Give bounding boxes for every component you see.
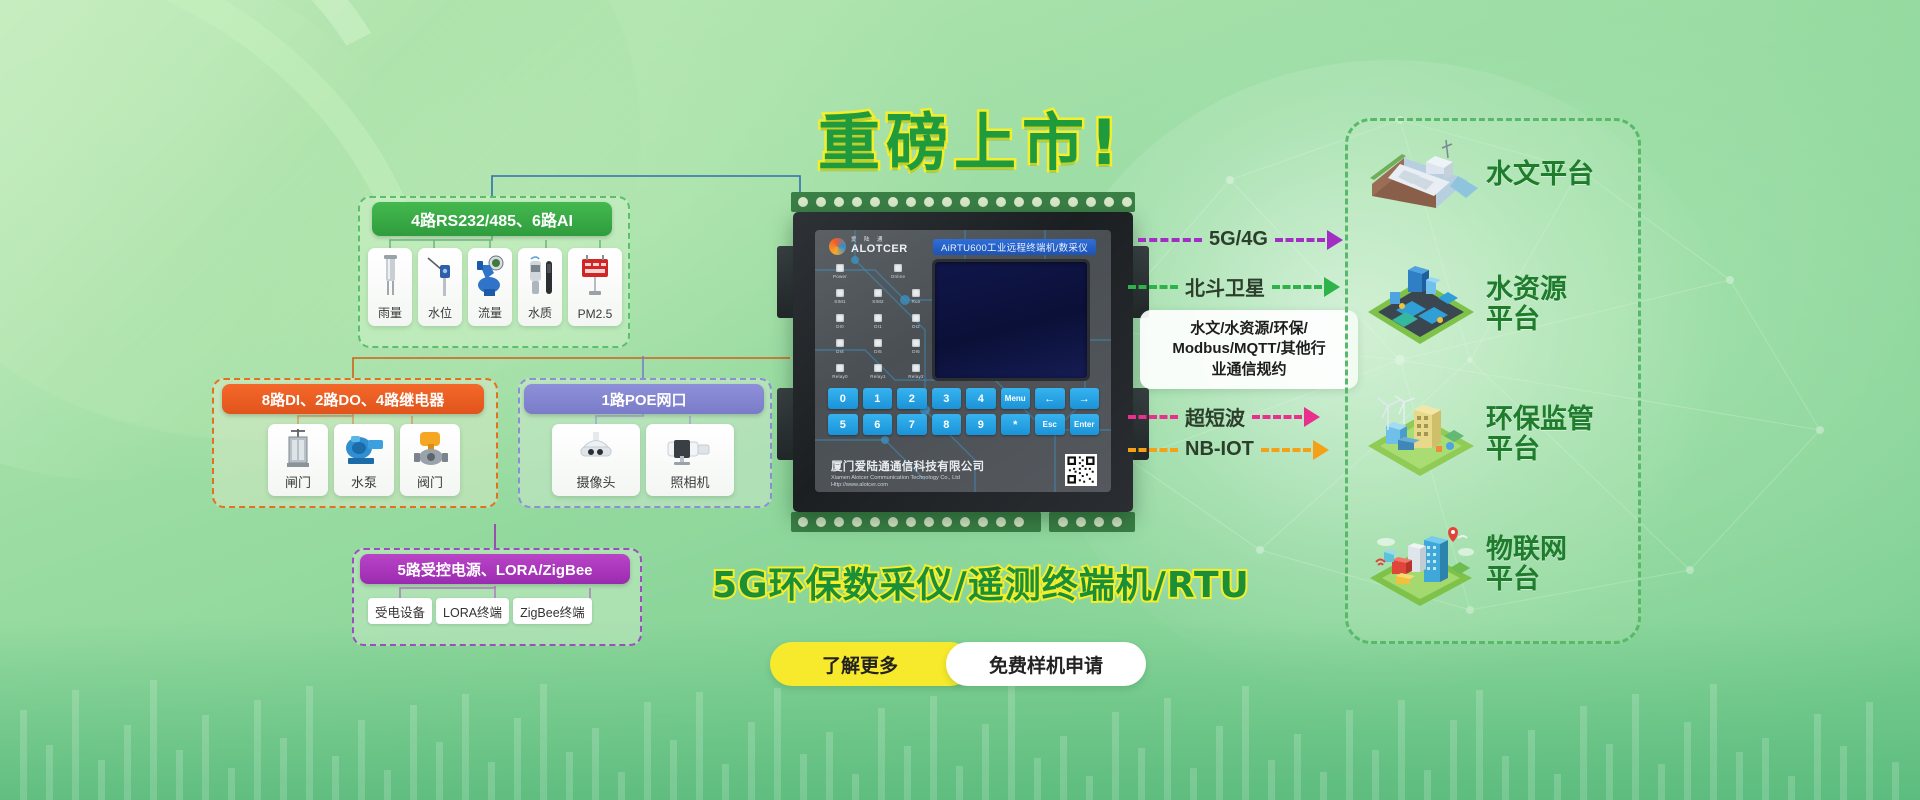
keypad-row: 0 1 2 3 4 Menu ← → — [828, 388, 1099, 409]
free-sample-button[interactable]: 免费样机申请 — [946, 642, 1146, 686]
led-indicator: DI4 — [828, 339, 852, 354]
key-3[interactable]: 3 — [932, 388, 962, 409]
arrow-head-icon — [1313, 440, 1329, 460]
list-item[interactable]: 照相机 — [646, 424, 734, 496]
platform-iot[interactable]: 物联网 平台 — [1362, 518, 1567, 610]
arrow-head-icon — [1327, 230, 1343, 250]
key-8[interactable]: 8 — [932, 414, 962, 435]
led-indicator: SIM2 — [866, 289, 890, 304]
led-indicator: Relay0 — [828, 364, 852, 379]
dashed-line — [1128, 448, 1178, 452]
flow-5g4g: 5G/4G — [1138, 228, 1343, 251]
device-lcd-screen — [935, 262, 1087, 378]
key-arrow-right[interactable]: → — [1070, 388, 1100, 409]
platform-label: 物联网 平台 — [1486, 534, 1567, 594]
led-indicator: DI1 — [866, 314, 890, 329]
list-item[interactable]: 水质 — [518, 248, 562, 326]
alotcer-logo-icon — [829, 238, 846, 255]
company-name-cn: 厦门爱陆通通信科技有限公司 — [831, 458, 984, 474]
bullet-camera-icon — [646, 424, 734, 472]
rtu-device: 爱 陆 通 ALOTCER AiRTU600工业远程终端机/数采仪 Power … — [793, 212, 1133, 512]
sluice-gate-icon — [268, 424, 328, 472]
dashed-line — [1275, 238, 1325, 242]
led-indicator: Power — [828, 264, 852, 279]
key-1[interactable]: 1 — [863, 388, 893, 409]
key-star[interactable]: * — [1001, 414, 1031, 435]
rain-gauge-icon — [368, 248, 412, 304]
device-bottom-terminals-icon — [787, 510, 1139, 534]
protocol-line: Modbus/MQTT/其他行 — [1150, 339, 1348, 359]
device-keypad: 0 1 2 3 4 Menu ← → 5 6 7 8 9 * Esc — [828, 388, 1099, 440]
lora-chip-row: 受电设备 LORA终端 ZigBee终端 — [368, 598, 592, 624]
protocol-line: 业通信规约 — [1150, 360, 1348, 380]
led-indicator: DI6 — [904, 339, 928, 354]
device-top-terminals-icon — [787, 190, 1139, 214]
sensor-group-title: 4路RS232/485、6路AI — [372, 202, 612, 236]
qr-code-icon — [1065, 454, 1097, 486]
device-model-title: AiRTU600工业远程终端机/数采仪 — [933, 239, 1096, 255]
list-item-label: 阀门 — [417, 472, 443, 496]
iot-city-isometric-icon — [1362, 518, 1482, 610]
list-item[interactable]: ZigBee终端 — [513, 598, 592, 624]
dam-isometric-icon — [1362, 128, 1482, 220]
platform-label: 水文平台 — [1486, 159, 1594, 189]
key-arrow-left[interactable]: ← — [1035, 388, 1065, 409]
list-item[interactable]: 流量 — [468, 248, 512, 326]
company-name-en: Xiamen Alotcer Communication Technology … — [831, 475, 984, 481]
company-website: Http://www.alotcer.com — [831, 482, 984, 488]
cta-button-group: 了解更多 免费样机申请 — [770, 642, 1146, 686]
learn-more-button[interactable]: 了解更多 — [770, 642, 972, 686]
dome-camera-icon — [552, 424, 640, 472]
list-item[interactable]: 受电设备 — [368, 598, 432, 624]
banner-stage: 重磅上市! 4路RS232/485、6路AI 雨量 水位 流量 水质 — [0, 0, 1920, 800]
key-enter[interactable]: Enter — [1070, 414, 1100, 435]
key-esc[interactable]: Esc — [1035, 414, 1065, 435]
platform-label: 水资源 平台 — [1486, 274, 1567, 334]
list-item[interactable]: 摄像头 — [552, 424, 640, 496]
list-item[interactable]: 闸门 — [268, 424, 328, 496]
key-0[interactable]: 0 — [828, 388, 858, 409]
list-item[interactable]: 雨量 — [368, 248, 412, 326]
platform-water-resource[interactable]: 水资源 平台 — [1362, 258, 1567, 350]
lora-group-title: 5路受控电源、LORA/ZigBee — [360, 554, 630, 584]
flow-label: 5G/4G — [1209, 228, 1268, 251]
list-item-label: 水位 — [428, 304, 452, 326]
protocol-box: 水文/水资源/环保/ Modbus/MQTT/其他行 业通信规约 — [1140, 310, 1358, 389]
led-indicator: Relay1 — [866, 364, 890, 379]
arrow-head-icon — [1304, 407, 1320, 427]
list-item-label: 照相机 — [670, 472, 709, 496]
dashed-line — [1128, 285, 1178, 289]
device-company-info: 厦门爱陆通通信科技有限公司 Xiamen Alotcer Communicati… — [831, 458, 984, 488]
list-item-label: 闸门 — [285, 472, 311, 496]
digital-io-card-row: 闸门 水泵 阀门 — [268, 424, 460, 496]
led-indicator: DI5 — [866, 339, 890, 354]
list-item-label: 水质 — [528, 304, 552, 326]
list-item[interactable]: LORA终端 — [436, 598, 509, 624]
flow-label: 超短波 — [1185, 402, 1245, 431]
page-headline: 重磅上市! — [818, 92, 1124, 182]
flow-meter-icon — [468, 248, 512, 304]
water-quality-probe-icon — [518, 248, 562, 304]
platform-label: 环保监管 平台 — [1486, 404, 1594, 464]
dashed-line — [1128, 415, 1178, 419]
device-brand: 爱 陆 通 ALOTCER — [829, 238, 908, 255]
list-item[interactable]: 水泵 — [334, 424, 394, 496]
flow-label: 北斗卫星 — [1185, 272, 1265, 301]
list-item[interactable]: 水位 — [418, 248, 462, 326]
dashed-line — [1252, 415, 1302, 419]
protocol-line: 水文/水资源/环保/ — [1150, 319, 1348, 339]
led-indicator: SIM1 — [828, 289, 852, 304]
arrow-head-icon — [1324, 277, 1340, 297]
key-2[interactable]: 2 — [897, 388, 927, 409]
flow-label: NB-IOT — [1185, 438, 1254, 461]
flow-beidou: 北斗卫星 — [1128, 272, 1340, 301]
list-item-label: 水泵 — [351, 472, 377, 496]
platform-eco-supervision[interactable]: 环保监管 平台 — [1362, 388, 1594, 480]
poe-card-row: 摄像头 照相机 — [552, 424, 734, 496]
led-indicator: Run — [904, 289, 928, 304]
flow-uhf: 超短波 — [1128, 402, 1320, 431]
digital-io-group-title: 8路DI、2路DO、4路继电器 — [222, 384, 484, 414]
keypad-row: 5 6 7 8 9 * Esc Enter — [828, 414, 1099, 435]
water-pump-icon — [334, 424, 394, 472]
list-item[interactable]: 阀门 — [400, 424, 460, 496]
list-item-label: PM2.5 — [578, 307, 613, 326]
key-6[interactable]: 6 — [863, 414, 893, 435]
brand-name-en: ALOTCER — [851, 244, 908, 255]
list-item-label: 摄像头 — [576, 472, 615, 496]
key-menu[interactable]: Menu — [1001, 388, 1031, 409]
sensor-card-row: 雨量 水位 流量 水质 PM2.5 — [368, 248, 622, 326]
led-indicator: Relay2 — [904, 364, 928, 379]
list-item-label: 流量 — [478, 304, 502, 326]
product-tagline: 5G环保数采仪/遥测终端机/RTU — [712, 556, 1250, 608]
pm25-monitor-icon — [568, 248, 622, 307]
device-faceplate: 爱 陆 通 ALOTCER AiRTU600工业远程终端机/数采仪 Power … — [815, 230, 1111, 492]
valve-icon — [400, 424, 460, 472]
eco-city-isometric-icon — [1362, 388, 1482, 480]
key-5[interactable]: 5 — [828, 414, 858, 435]
led-indicator: DI2 — [904, 314, 928, 329]
water-plant-isometric-icon — [1362, 258, 1482, 350]
key-7[interactable]: 7 — [897, 414, 927, 435]
poe-group-title: 1路POE网口 — [524, 384, 764, 414]
key-9[interactable]: 9 — [966, 414, 996, 435]
dashed-line — [1261, 448, 1311, 452]
led-indicator: DI0 — [828, 314, 852, 329]
key-4[interactable]: 4 — [966, 388, 996, 409]
dashed-line — [1272, 285, 1322, 289]
led-indicator: Online — [886, 264, 910, 279]
list-item[interactable]: PM2.5 — [568, 248, 622, 326]
platform-hydrology[interactable]: 水文平台 — [1362, 128, 1594, 220]
dashed-line — [1138, 238, 1202, 242]
water-level-sensor-icon — [418, 248, 462, 304]
list-item-label: 雨量 — [378, 304, 402, 326]
flow-nbiot: NB-IOT — [1128, 438, 1329, 461]
